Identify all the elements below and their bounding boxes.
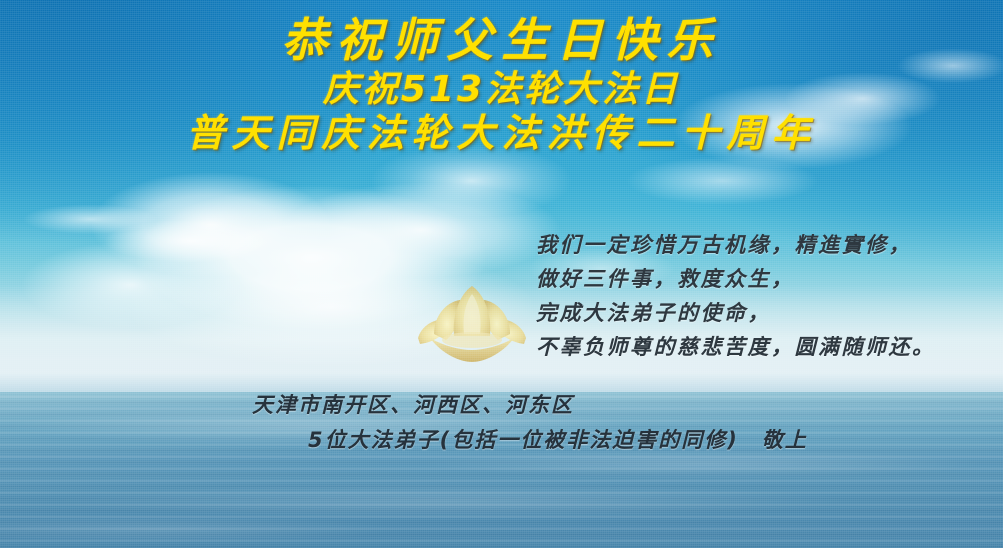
- title-line-3: 普天同庆法轮大法洪传二十周年: [0, 113, 1003, 153]
- title-line-1: 恭祝师父生日快乐: [0, 16, 1003, 65]
- golden-lotus-icon: [408, 276, 536, 368]
- greeting-poster: 恭祝师父生日快乐 庆祝513法轮大法日 普天同庆法轮大法洪传二十周年 我们一定珍…: [0, 0, 1003, 548]
- signature-line-location: 天津市南开区、河西区、河东区: [252, 388, 808, 423]
- title-line-2: 庆祝513法轮大法日: [0, 71, 1003, 109]
- signature-block: 天津市南开区、河西区、河东区 5位大法弟子(包括一位被非法迫害的同修) 敬上: [252, 388, 808, 458]
- title-block: 恭祝师父生日快乐 庆祝513法轮大法日 普天同庆法轮大法洪传二十周年: [0, 16, 1003, 153]
- message-block: 我们一定珍惜万古机缘，精進實修， 做好三件事，救度众生， 完成大法弟子的使命， …: [536, 228, 936, 364]
- message-line-4: 不辜负师尊的慈悲苦度，圆满随师还。: [536, 330, 936, 364]
- message-line-3: 完成大法弟子的使命，: [536, 296, 936, 330]
- message-line-2: 做好三件事，救度众生，: [536, 262, 936, 296]
- signature-line-senders: 5位大法弟子(包括一位被非法迫害的同修) 敬上: [252, 423, 808, 458]
- message-line-1: 我们一定珍惜万古机缘，精進實修，: [536, 228, 936, 262]
